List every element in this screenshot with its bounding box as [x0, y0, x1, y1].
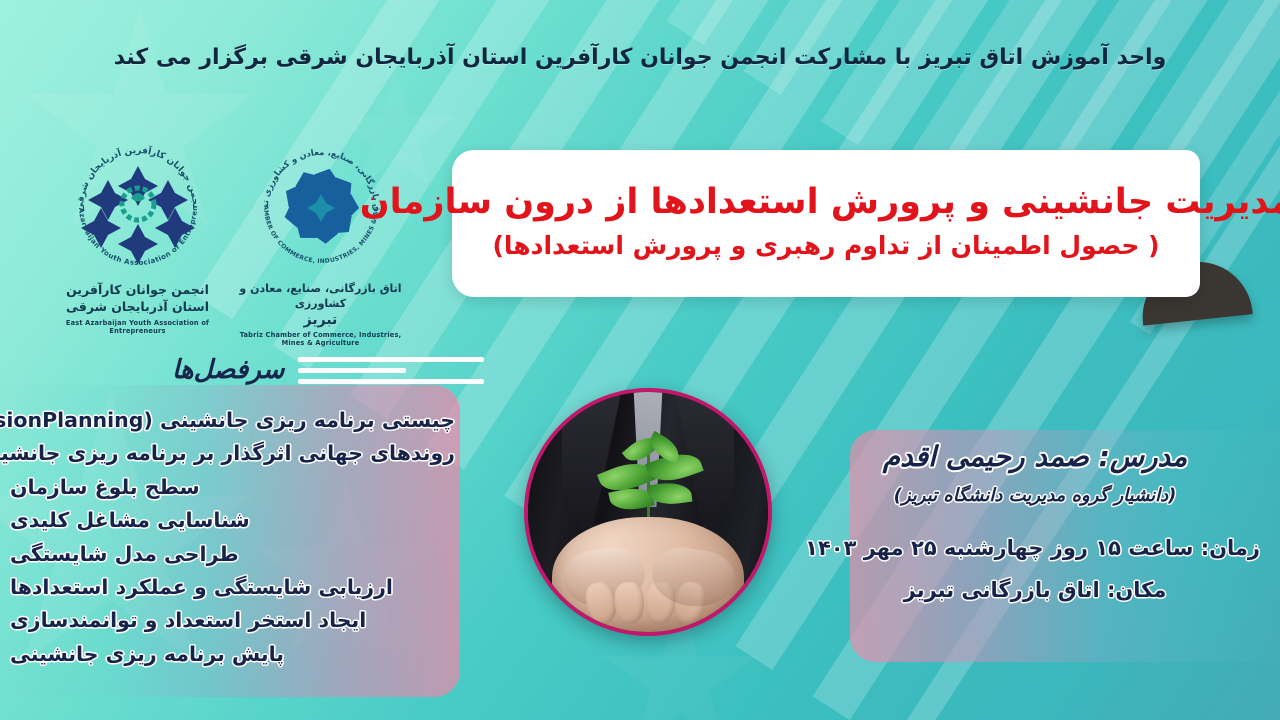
page-subtitle: ( حصول اطمینان از تداوم رهبری و پرورش اس…	[492, 231, 1159, 261]
list-item: ایجاد استخر استعداد و توانمندسازی	[10, 604, 455, 637]
youth-association-emblem-icon: انجمن جوانان کارآفرین آذربایجان شرقی Eas…	[63, 128, 213, 278]
rule-line	[298, 379, 484, 384]
topics-heading-label: سرفصل‌ها	[172, 355, 284, 385]
finger	[582, 579, 619, 626]
rule-line	[298, 368, 406, 373]
logo-caption-en: East Azarbaijan Youth Association of Ent…	[55, 319, 220, 335]
instructor-title: (دانشیار گروه مدیریت دانشگاه تبریز)	[810, 485, 1260, 506]
page-title: مدیریت جانشینی و پرورش استعدادها از درون…	[360, 182, 1280, 222]
logo-tabriz-chamber-of-commerce: اتاق بازرگانی، صنایع، معادن و کشاورزی تب…	[238, 128, 403, 347]
title-card: مدیریت جانشینی و پرورش استعدادها از درون…	[452, 150, 1200, 297]
organizer-line: واحد آموزش اتاق تبریز با مشارکت انجمن جو…	[114, 44, 1167, 72]
logo-east-azarbaijan-youth-association: انجمن جوانان کارآفرین آذربایجان شرقی Eas…	[55, 128, 220, 335]
logo-caption-city: تبریز	[238, 312, 403, 328]
list-item: سطح بلوغ سازمان	[10, 471, 455, 504]
topics-list: چیستی برنامه ریزی جانشینی (SuccessionPla…	[0, 404, 455, 671]
cupped-hands	[552, 517, 744, 636]
logo-caption-en: Tabriz Chamber of Commerce, Industries, …	[238, 331, 403, 347]
list-item: طراحی مدل شایستگی	[10, 538, 455, 571]
list-item: ارزیابی شایستگی و عملکرد استعدادها	[10, 571, 455, 604]
finger	[671, 579, 708, 626]
list-item: روندهای جهانی اثرگذار بر برنامه ریزی جان…	[10, 437, 455, 470]
event-details: مدرس: صمد رحیمی اقدم (دانشیار گروه مدیری…	[810, 440, 1280, 602]
hands-holding-seedling-photo	[524, 388, 772, 636]
list-item: پایش برنامه ریزی جانشینی	[10, 638, 455, 671]
event-poster: واحد آموزش اتاق تبریز با مشارکت انجمن جو…	[0, 0, 1280, 720]
list-item: چیستی برنامه ریزی جانشینی (SuccessionPla…	[10, 404, 455, 437]
finger	[645, 581, 677, 625]
rule-line	[298, 357, 484, 362]
logo-caption-fa: اتاق بازرگانی، صنایع، معادن و کشاورزی	[238, 282, 403, 312]
finger	[614, 581, 646, 625]
event-time: زمان: ساعت ۱۵ روز چهارشنبه ۲۵ مهر ۱۴۰۳	[810, 536, 1260, 560]
logo-caption-fa: انجمن جوانان کارآفرین استان آذربایجان شر…	[55, 282, 220, 316]
rule-lines-decoration	[298, 357, 484, 384]
logo-group: انجمن جوانان کارآفرین آذربایجان شرقی Eas…	[55, 128, 403, 347]
poster-header: واحد آموزش اتاق تبریز با مشارکت انجمن جو…	[0, 44, 1280, 72]
list-item: شناسایی مشاغل کلیدی	[10, 504, 455, 537]
photo-scene	[528, 392, 768, 632]
event-venue: مکان: اتاق بازرگانی تبریز	[810, 578, 1260, 602]
instructor-name: مدرس: صمد رحیمی اقدم	[810, 440, 1260, 473]
